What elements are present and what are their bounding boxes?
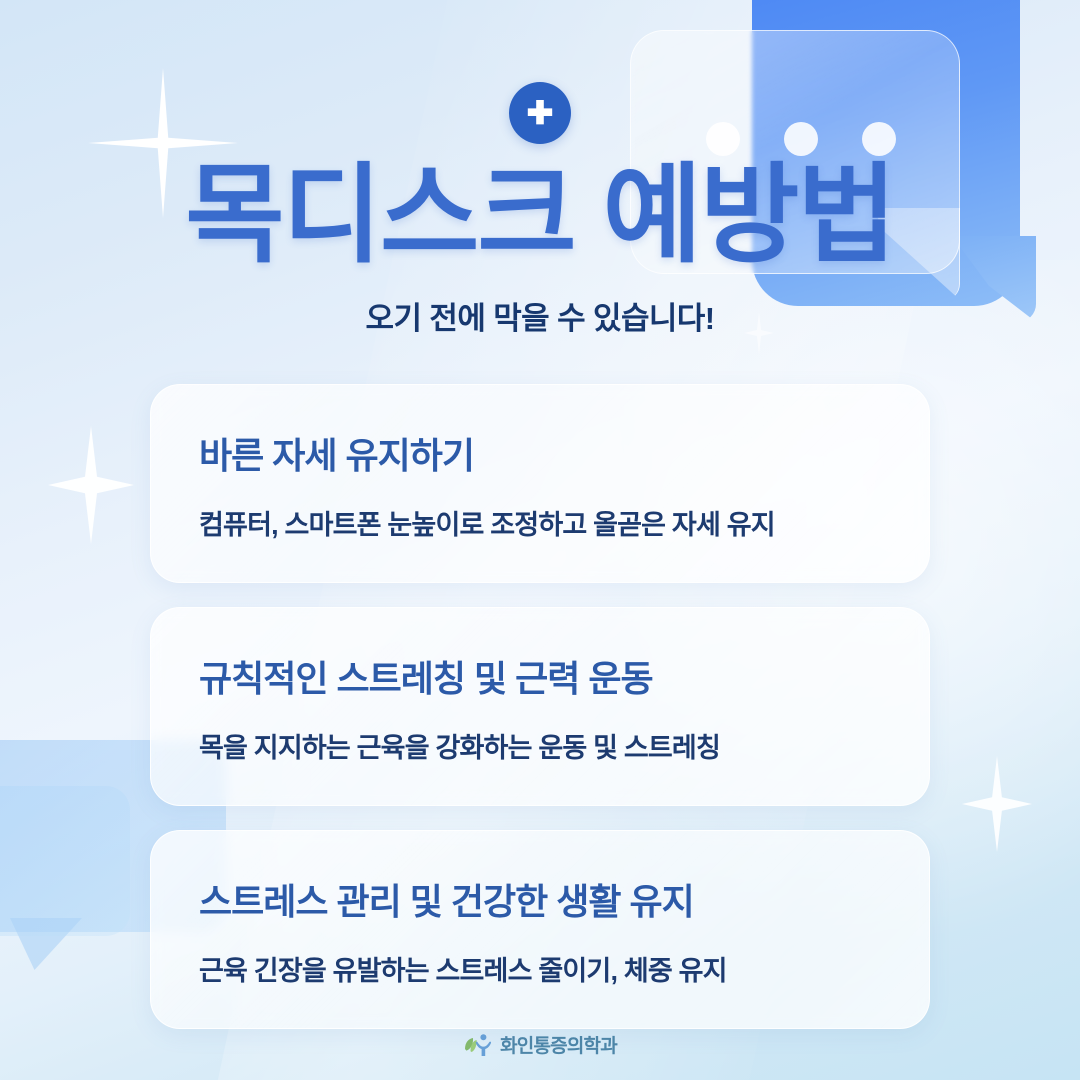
page-subtitle: 오기 전에 막을 수 있습니다! [0, 293, 1080, 338]
page-title: 목디스크 예방법 [0, 158, 1080, 271]
tip-card-title: 규칙적인 스트레칭 및 근력 운동 [199, 650, 881, 702]
tip-card-description: 목을 지지하는 근육을 강화하는 운동 및 스트레칭 [199, 726, 881, 765]
sparkle-star-icon [48, 426, 134, 544]
medical-cross-icon [509, 82, 571, 144]
sparkle-star-icon [962, 756, 1032, 852]
poster-header: 목디스크 예방법 오기 전에 막을 수 있습니다! [0, 0, 1080, 338]
tips-card-list: 바른 자세 유지하기 컴퓨터, 스마트폰 눈높이로 조정하고 올곧은 자세 유지… [150, 384, 930, 1029]
tip-card-title: 바른 자세 유지하기 [199, 427, 881, 479]
tip-card-title: 스트레스 관리 및 건강한 생활 유지 [199, 873, 881, 925]
tip-card: 규칙적인 스트레칭 및 근력 운동 목을 지지하는 근육을 강화하는 운동 및 … [150, 607, 930, 806]
tip-card: 스트레스 관리 및 건강한 생활 유지 근육 긴장을 유발하는 스트레스 줄이기… [150, 830, 930, 1029]
soft-speech-bubble-shape-secondary [0, 786, 130, 936]
footer-branding: 화인통증의학과 [0, 1031, 1080, 1058]
leaf-person-logo-icon [463, 1033, 493, 1057]
tip-card-description: 근육 긴장을 유발하는 스트레스 줄이기, 체중 유지 [199, 949, 881, 988]
tip-card: 바른 자세 유지하기 컴퓨터, 스마트폰 눈높이로 조정하고 올곧은 자세 유지 [150, 384, 930, 583]
clinic-name: 화인통증의학과 [500, 1031, 617, 1058]
tip-card-description: 컴퓨터, 스마트폰 눈높이로 조정하고 올곧은 자세 유지 [199, 503, 881, 542]
poster-root: 목디스크 예방법 오기 전에 막을 수 있습니다! 바른 자세 유지하기 컴퓨터… [0, 0, 1080, 1080]
soft-speech-bubble-tail [10, 918, 82, 970]
